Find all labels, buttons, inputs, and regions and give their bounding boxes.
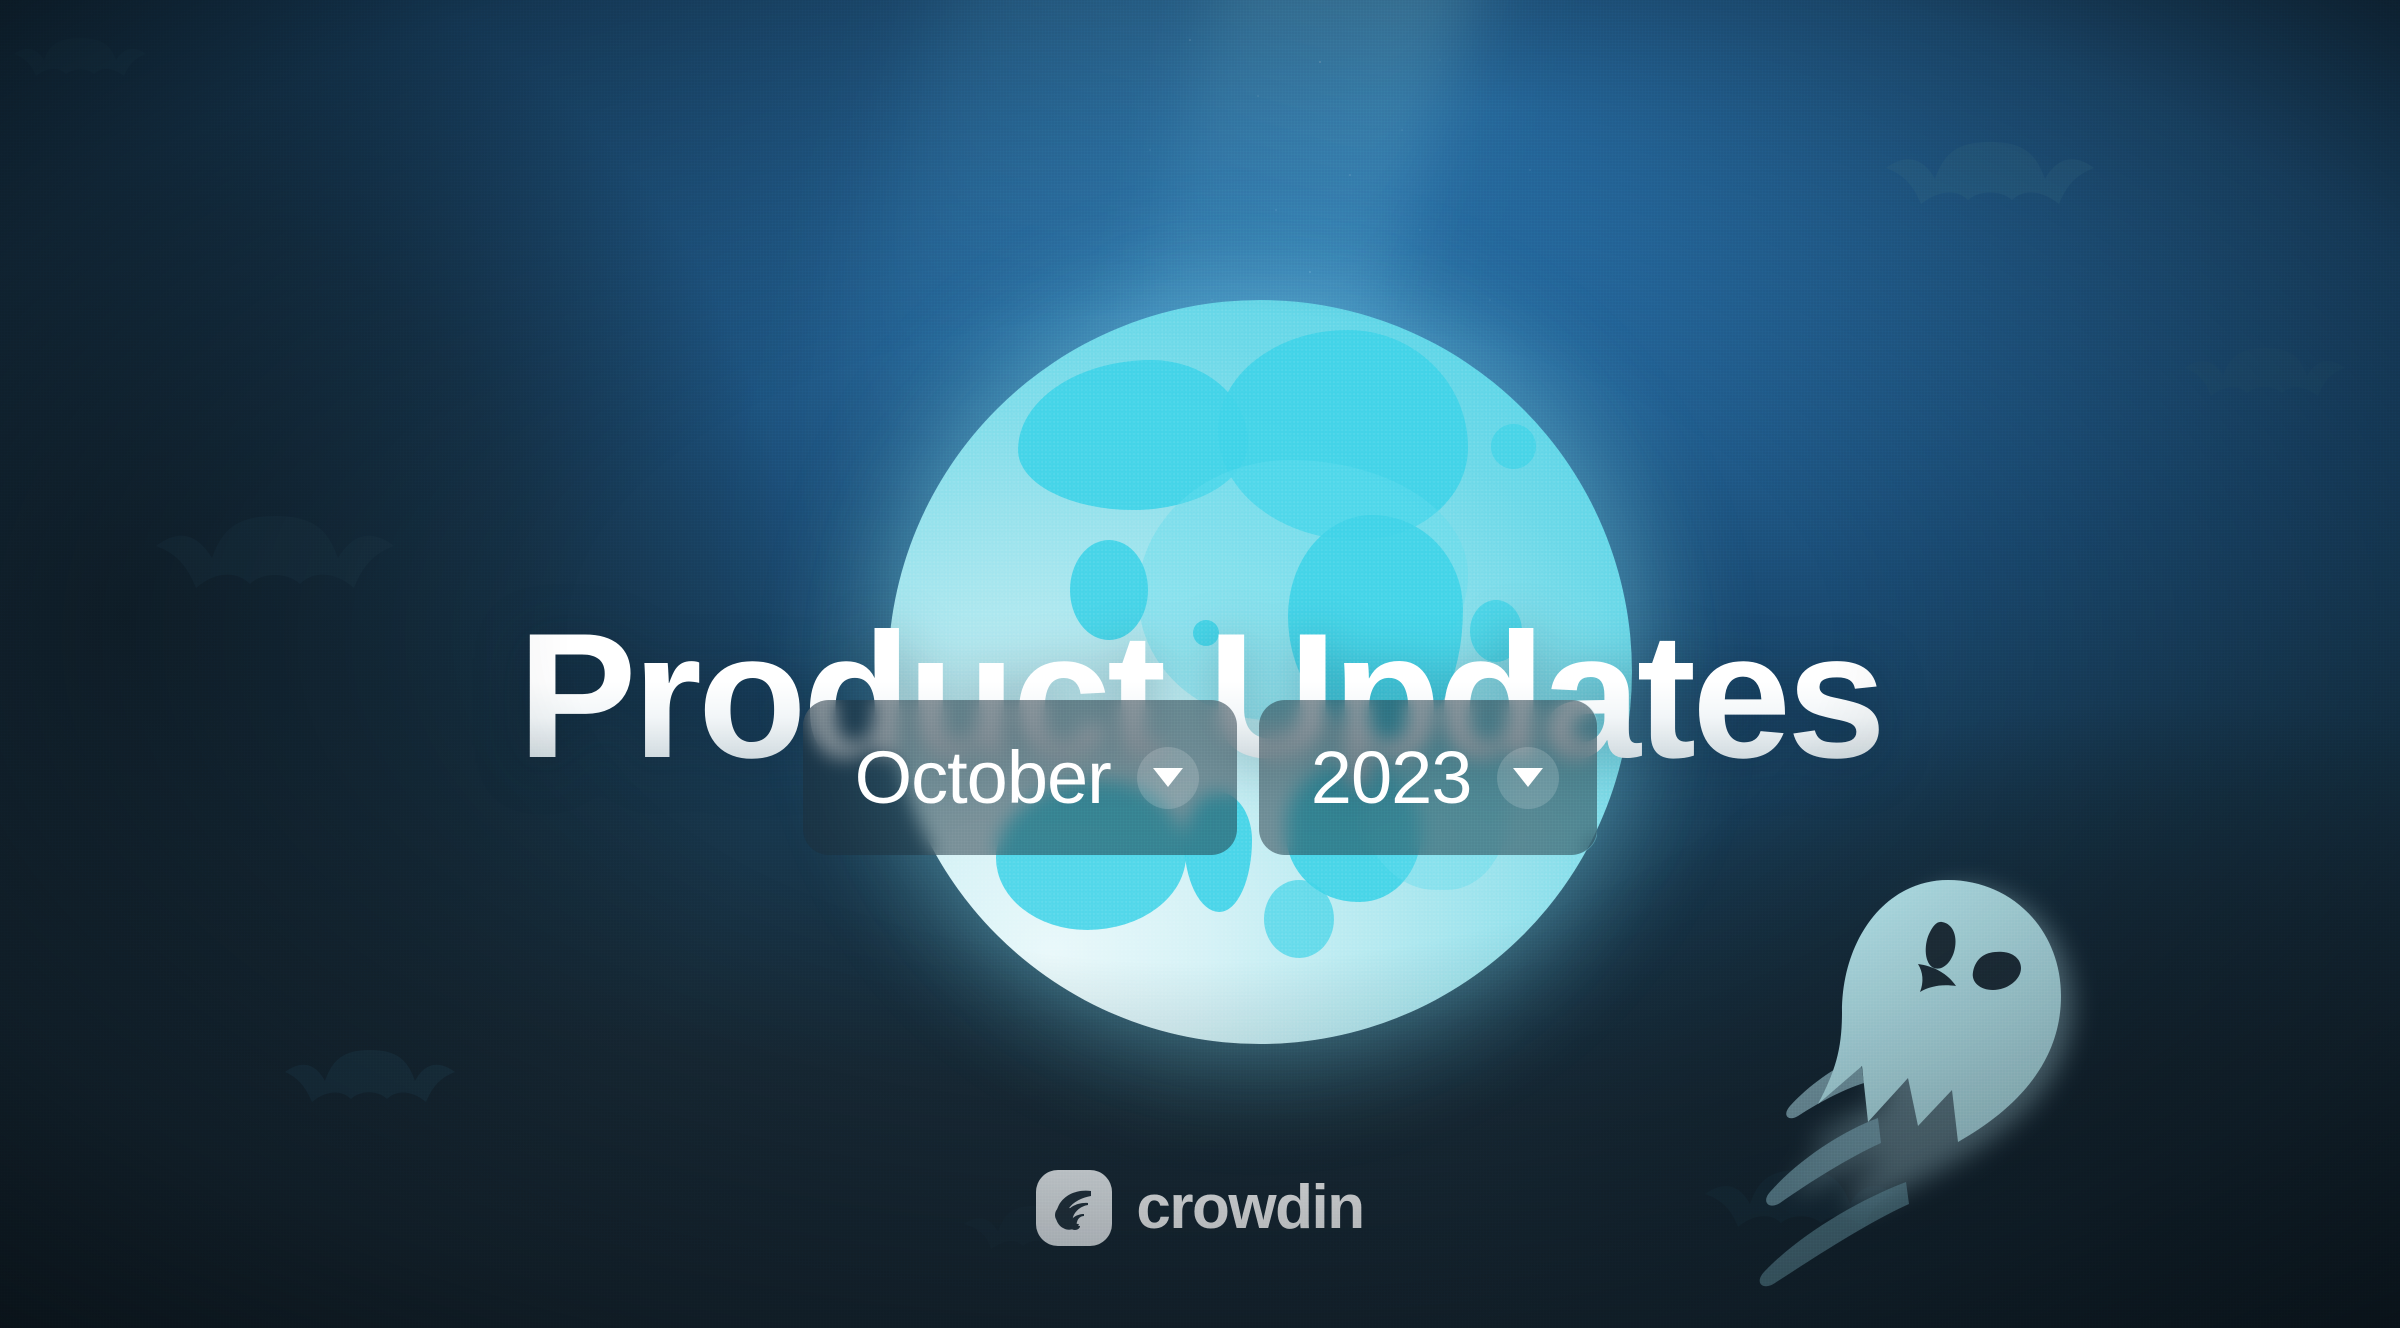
- background-vignette: [0, 0, 2400, 1328]
- product-updates-banner: Product Updates October 2023: [0, 0, 2400, 1328]
